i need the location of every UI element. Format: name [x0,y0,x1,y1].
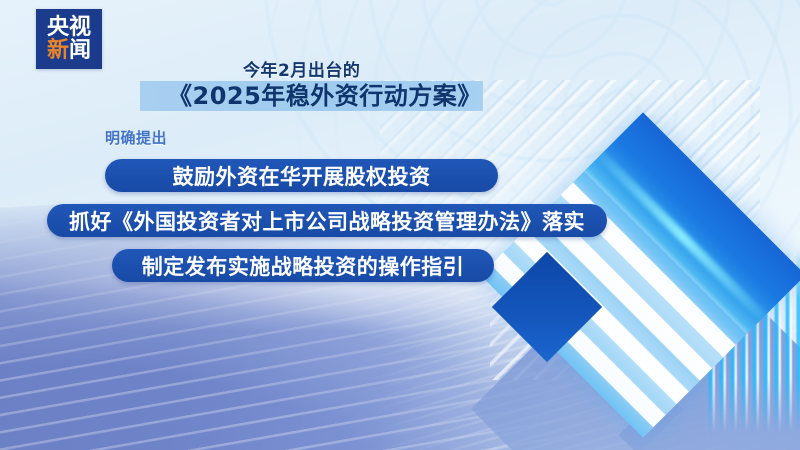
point-bar-1: 鼓励外资在华开展股权投资 [105,159,498,192]
news-graphic-slide: 央视 新 闻 今年2月出台的 《2025年稳外资行动方案》 明确提出 鼓励外资在… [0,0,800,450]
subtitle: 今年2月出台的 [243,56,360,81]
page-title: 《2025年稳外资行动方案》 [168,80,482,112]
logo-text-top: 央视 [47,17,91,39]
logo-line-1: 央视 [47,17,91,39]
cctv-news-logo: 央视 新 闻 [36,9,102,69]
logo-text-accent: 新 [47,40,69,62]
diamond-graphic [508,150,800,450]
lead-in-label: 明确提出 [105,127,167,148]
logo-text-bottom: 闻 [69,40,91,62]
point-bar-3: 制定发布实施战略投资的操作指引 [112,249,494,282]
logo-line-2: 新 闻 [47,40,91,62]
point-bar-2: 抓好《外国投资者对上市公司战略投资管理办法》落实 [47,204,607,237]
